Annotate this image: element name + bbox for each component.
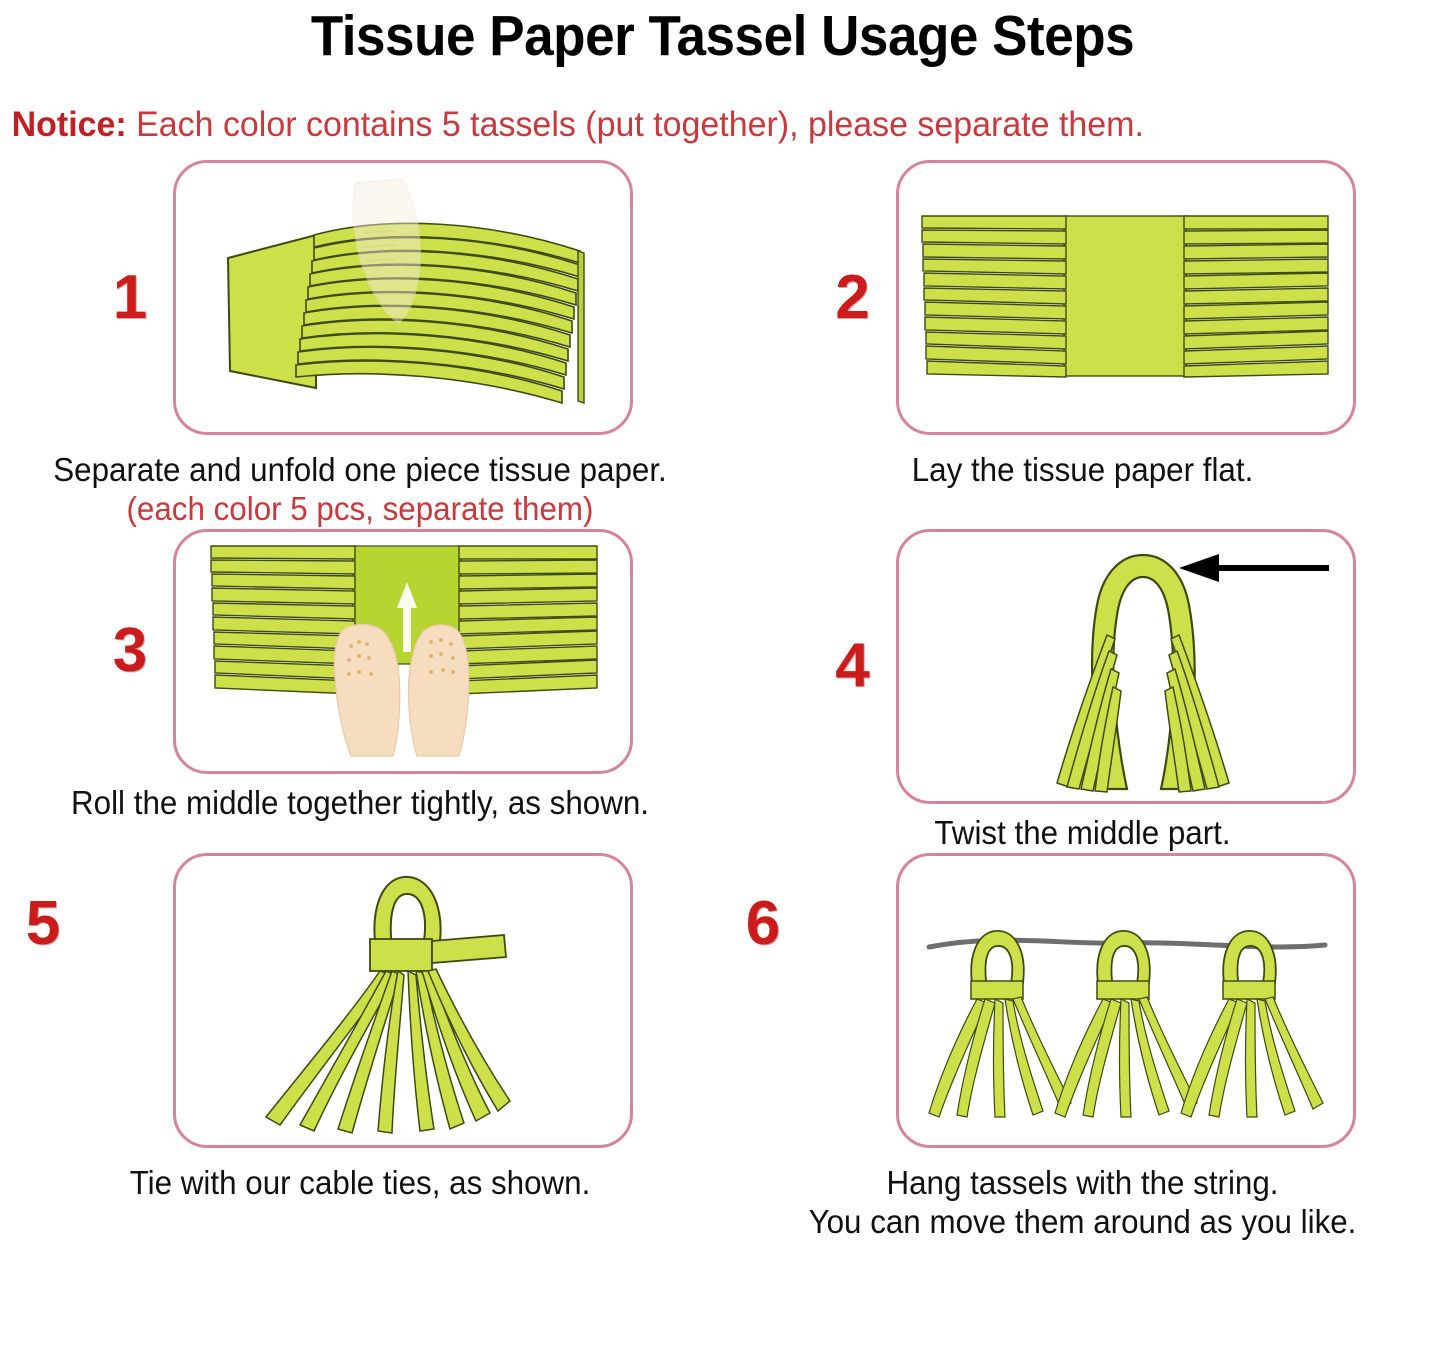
- step-illustration-6: [896, 853, 1356, 1148]
- tassel-tied-with-cable-tie-icon: [188, 863, 618, 1138]
- step-caption-4: Twist the middle part.: [738, 814, 1427, 853]
- step-number-2: 2: [810, 267, 896, 329]
- notice-line: Notice: Each color contains 5 tassels (p…: [0, 107, 1402, 142]
- step-caption-text-2: Lay the tissue paper flat.: [912, 451, 1254, 488]
- step-illustration-5: [173, 853, 633, 1148]
- step-number-1: 1: [87, 267, 173, 329]
- two-hands-rolling-middle-with-up-arrow-icon: [193, 542, 613, 760]
- step-caption-5: Tie with our cable ties, as shown.: [18, 1164, 702, 1203]
- step-illustration-1: [173, 160, 633, 435]
- step-illustration-3: [173, 529, 633, 774]
- step-caption-1: Separate and unfold one piece tissue pap…: [18, 451, 702, 529]
- step-caption-3: Roll the middle together tightly, as sho…: [18, 784, 702, 823]
- step-number-5: 5: [0, 893, 86, 955]
- steps-grid: 1: [0, 160, 1445, 1242]
- step-subcaption-6: You can move them around as you like.: [738, 1203, 1427, 1242]
- step-card-4: 4: [720, 529, 1445, 853]
- page-title: Tissue Paper Tassel Usage Steps: [51, 0, 1395, 65]
- step-card-2: 2: [720, 160, 1445, 529]
- step-card-1: 1: [0, 160, 720, 529]
- step-number-3: 3: [87, 620, 173, 682]
- flat-fringed-tissue-paper-icon: [916, 210, 1336, 385]
- step-caption-text-4: Twist the middle part.: [934, 814, 1230, 851]
- step-card-5: Tie with our cable ties, as shown. 5: [0, 853, 720, 1242]
- three-tassels-hanging-on-string-icon: [911, 863, 1341, 1138]
- step-caption-text-5: Tie with our cable ties, as shown.: [130, 1164, 591, 1201]
- step-caption-2: Lay the tissue paper flat.: [738, 451, 1427, 490]
- notice-text: Each color contains 5 tassels (put toget…: [127, 105, 1144, 144]
- step-caption-6: Hang tassels with the string. You can mo…: [738, 1164, 1427, 1242]
- notice-label: Notice:: [12, 105, 127, 144]
- step-illustration-4: [896, 529, 1356, 804]
- fringed-tissue-held-in-hand-icon: [188, 173, 618, 423]
- folded-tassel-loop-with-left-arrow-icon: [911, 539, 1341, 794]
- step-caption-text-3: Roll the middle together tightly, as sho…: [71, 784, 649, 821]
- step-caption-text-1: Separate and unfold one piece tissue pap…: [53, 451, 667, 488]
- step-caption-text-6: Hang tassels with the string.: [886, 1164, 1278, 1201]
- step-subcaption-1: (each color 5 pcs, separate them): [18, 490, 702, 529]
- step-number-6: 6: [720, 893, 806, 955]
- step-card-6: Hang tassels with the string. You can mo…: [720, 853, 1445, 1242]
- step-number-4: 4: [810, 635, 896, 697]
- step-card-3: 3: [0, 529, 720, 853]
- step-illustration-2: [896, 160, 1356, 435]
